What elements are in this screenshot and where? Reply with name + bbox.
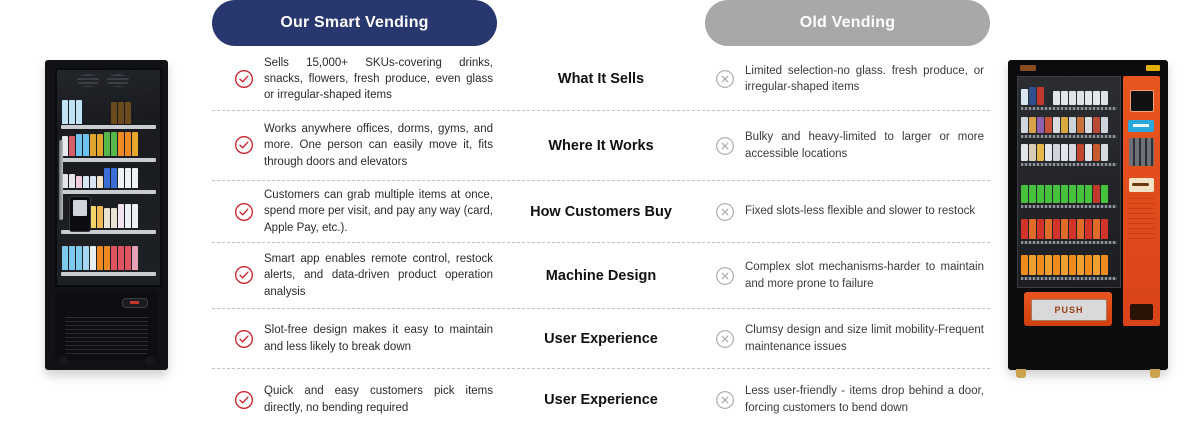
check-circle-icon	[234, 135, 254, 155]
smart-cooler-graphic	[45, 60, 168, 370]
feature-label: How Customers Buy	[530, 204, 672, 220]
smart-vending-cell: Customers can grab multiple items at onc…	[212, 179, 497, 244]
header-pill-smart-vending: Our Smart Vending	[212, 0, 497, 46]
cooler-shelf-goods	[62, 130, 155, 156]
smart-vending-cell: Quick and easy customers pick items dire…	[212, 375, 497, 424]
header-label-smart-vending: Our Smart Vending	[280, 14, 428, 32]
x-circle-icon	[715, 390, 735, 410]
old-vending-text: Less user-friendly - items drop behind a…	[745, 383, 984, 416]
table-row: Quick and easy customers pick items dire…	[212, 368, 990, 430]
old-vending-cell: Bulky and heavy-limited to larger or mor…	[705, 121, 990, 170]
check-circle-icon	[234, 390, 254, 410]
vending-brand-logo	[1020, 65, 1036, 71]
cooler-door-handle[interactable]	[59, 140, 63, 220]
comparison-table: Our Smart Vending Old Vending Sells 15,0…	[212, 0, 990, 440]
vending-shelf-rail	[1021, 107, 1117, 110]
vending-instructions-text	[1128, 198, 1155, 240]
cooler-shelf-goods	[62, 240, 155, 270]
smart-cooler-image	[0, 0, 212, 440]
vending-shelf-goods	[1021, 139, 1117, 161]
push-label: PUSH	[1054, 305, 1083, 315]
old-vending-text: Complex slot mechanisms-harder to mainta…	[745, 259, 984, 292]
old-vending-text: Clumsy design and size limit mobility-Fr…	[745, 322, 984, 355]
feature-label: User Experience	[544, 392, 658, 408]
cooler-vents	[65, 314, 148, 354]
feature-label-cell: User Experience	[497, 331, 705, 347]
vending-shelf-rail	[1021, 277, 1117, 280]
payment-terminal[interactable]	[69, 196, 91, 232]
vending-shelf-goods	[1021, 111, 1117, 133]
feature-label: User Experience	[544, 331, 658, 347]
smart-vending-text: Customers can grab multiple items at onc…	[264, 187, 493, 236]
check-circle-icon	[234, 202, 254, 222]
vending-machine-graphic: PUSH	[1008, 60, 1168, 370]
cooler-fan-icon	[107, 74, 129, 87]
feature-label-cell: How Customers Buy	[497, 204, 705, 220]
old-vending-cell: Complex slot mechanisms-harder to mainta…	[705, 251, 990, 300]
old-vending-cell: Clumsy design and size limit mobility-Fr…	[705, 314, 990, 363]
smart-vending-text: Quick and easy customers pick items dire…	[264, 383, 493, 416]
feature-label: Where It Works	[548, 138, 653, 154]
vending-foot	[1016, 369, 1026, 378]
vending-shelf-goods	[1021, 251, 1117, 275]
vending-shelf-rail	[1021, 135, 1117, 138]
old-vending-machine-image: PUSH	[988, 0, 1200, 440]
smart-vending-text: Sells 15,000+ SKUs-covering drinks, snac…	[264, 55, 493, 104]
x-circle-icon	[715, 266, 735, 286]
header-label-old-vending: Old Vending	[800, 14, 896, 32]
vending-glass-window	[1017, 76, 1121, 288]
card-reader-icon[interactable]	[1128, 120, 1154, 132]
cooler-glass-door	[55, 68, 162, 287]
cooler-shelf	[61, 125, 156, 129]
check-circle-icon	[234, 329, 254, 349]
old-vending-text: Bulky and heavy-limited to larger or mor…	[745, 129, 984, 162]
caster-icon	[145, 356, 154, 365]
vending-screen	[1130, 90, 1154, 112]
feature-label: What It Sells	[558, 71, 644, 87]
feature-label-cell: User Experience	[497, 392, 705, 408]
cooler-shelf-goods	[62, 164, 155, 188]
cooler-shelf-goods	[62, 98, 155, 124]
cooler-display-badge	[122, 298, 148, 308]
old-vending-cell: Less user-friendly - items drop behind a…	[705, 375, 990, 424]
vending-shelf-goods	[1021, 83, 1117, 105]
coin-return-tray[interactable]	[1130, 304, 1153, 320]
cooler-fan-icon	[77, 74, 99, 87]
old-vending-text: Limited selection-no glass. fresh produc…	[745, 63, 984, 96]
feature-label: Machine Design	[546, 268, 656, 284]
check-circle-icon	[234, 69, 254, 89]
table-row: Smart app enables remote control, restoc…	[212, 242, 990, 308]
coin-slot-icon[interactable]	[1129, 178, 1154, 192]
vending-shelf-goods	[1021, 215, 1117, 239]
smart-vending-text: Smart app enables remote control, restoc…	[264, 251, 493, 300]
table-row: Customers can grab multiple items at onc…	[212, 180, 990, 242]
smart-vending-cell: Slot-free design makes it easy to mainta…	[212, 314, 497, 363]
vending-push-flap[interactable]: PUSH	[1024, 292, 1112, 326]
vending-keypad[interactable]	[1129, 138, 1154, 166]
check-circle-icon	[234, 265, 254, 285]
smart-vending-cell: Works anywhere offices, dorms, gyms, and…	[212, 113, 497, 178]
feature-label-cell: What It Sells	[497, 71, 705, 87]
x-circle-icon	[715, 69, 735, 89]
smart-vending-text: Slot-free design makes it easy to mainta…	[264, 322, 493, 355]
table-header-row: Our Smart Vending Old Vending	[212, 0, 990, 48]
old-vending-cell: Fixed slots-less flexible and slower to …	[705, 194, 990, 230]
table-row: Slot-free design makes it easy to mainta…	[212, 308, 990, 368]
smart-vending-text: Works anywhere offices, dorms, gyms, and…	[264, 121, 493, 170]
cooler-shelf	[61, 190, 156, 194]
table-row: Sells 15,000+ SKUs-covering drinks, snac…	[212, 48, 990, 110]
comparison-page: Our Smart Vending Old Vending Sells 15,0…	[0, 0, 1200, 440]
old-vending-cell: Limited selection-no glass. fresh produc…	[705, 55, 990, 104]
cooler-base	[55, 292, 158, 360]
table-row: Works anywhere offices, dorms, gyms, and…	[212, 110, 990, 180]
caster-icon	[59, 356, 68, 365]
vending-shelf-rail	[1021, 163, 1117, 166]
vending-shelf-rail	[1021, 241, 1117, 244]
vending-amber-light	[1146, 65, 1160, 71]
x-circle-icon	[715, 136, 735, 156]
vending-foot	[1150, 369, 1160, 378]
header-pill-old-vending: Old Vending	[705, 0, 990, 46]
vending-shelf-rail	[1021, 205, 1117, 208]
old-vending-text: Fixed slots-less flexible and slower to …	[745, 203, 975, 219]
smart-vending-cell: Smart app enables remote control, restoc…	[212, 243, 497, 308]
push-flap-window: PUSH	[1031, 299, 1107, 321]
x-circle-icon	[715, 202, 735, 222]
feature-label-cell: Where It Works	[497, 138, 705, 154]
smart-vending-cell: Sells 15,000+ SKUs-covering drinks, snac…	[212, 47, 497, 112]
cooler-shelf	[61, 158, 156, 162]
feature-label-cell: Machine Design	[497, 268, 705, 284]
vending-control-panel	[1123, 76, 1160, 326]
x-circle-icon	[715, 329, 735, 349]
vending-shelf-goods	[1021, 181, 1117, 203]
cooler-shelf	[61, 272, 156, 276]
table-body: Sells 15,000+ SKUs-covering drinks, snac…	[212, 48, 990, 430]
